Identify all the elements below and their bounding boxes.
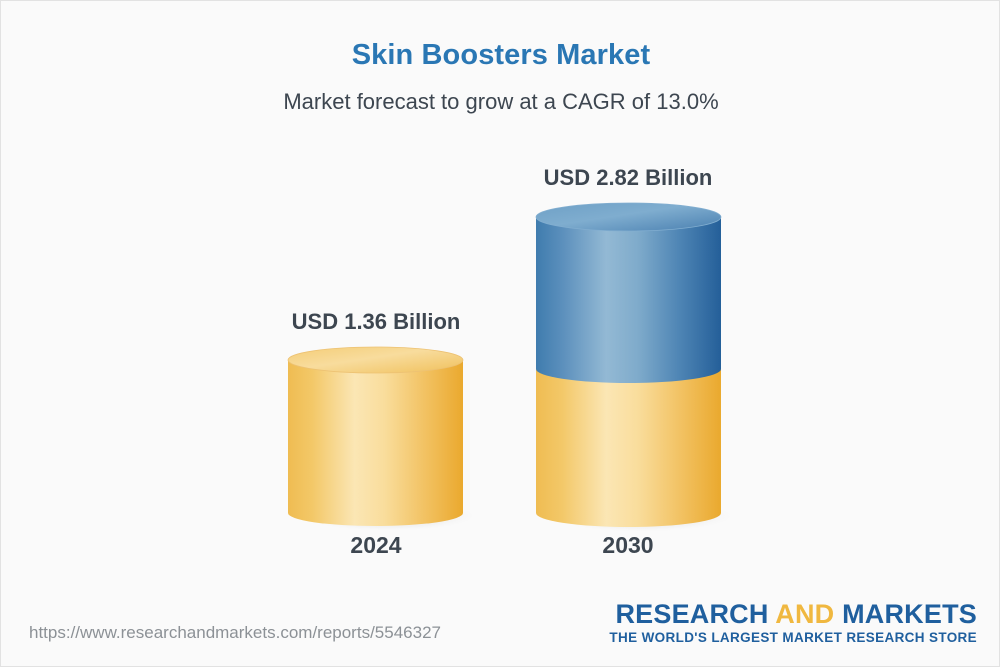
axis-label-2024: 2024 (286, 532, 466, 559)
brand-word-and: AND (775, 599, 834, 629)
brand-tagline: THE WORLD'S LARGEST MARKET RESEARCH STOR… (609, 630, 977, 645)
bar-cylinder-2024 (288, 340, 483, 540)
page-title: Skin Boosters Market (1, 39, 1000, 72)
axis-label-2030: 2030 (533, 532, 723, 559)
source-url[interactable]: https://www.researchandmarkets.com/repor… (29, 623, 441, 643)
chart-subtitle: Market forecast to grow at a CAGR of 13.… (1, 89, 1000, 115)
brand-logo: RESEARCH AND MARKETS THE WORLD'S LARGEST… (609, 600, 977, 645)
data-label-2030: USD 2.82 Billion (533, 165, 723, 191)
data-label-2024: USD 1.36 Billion (286, 309, 466, 335)
bar-cylinder-2030 (536, 196, 741, 541)
chart-canvas: Skin Boosters Market Market forecast to … (0, 0, 1000, 667)
brand-wordmark: RESEARCH AND MARKETS (609, 600, 977, 628)
brand-word-markets: MARKETS (842, 599, 977, 629)
brand-word-research: RESEARCH (615, 599, 768, 629)
